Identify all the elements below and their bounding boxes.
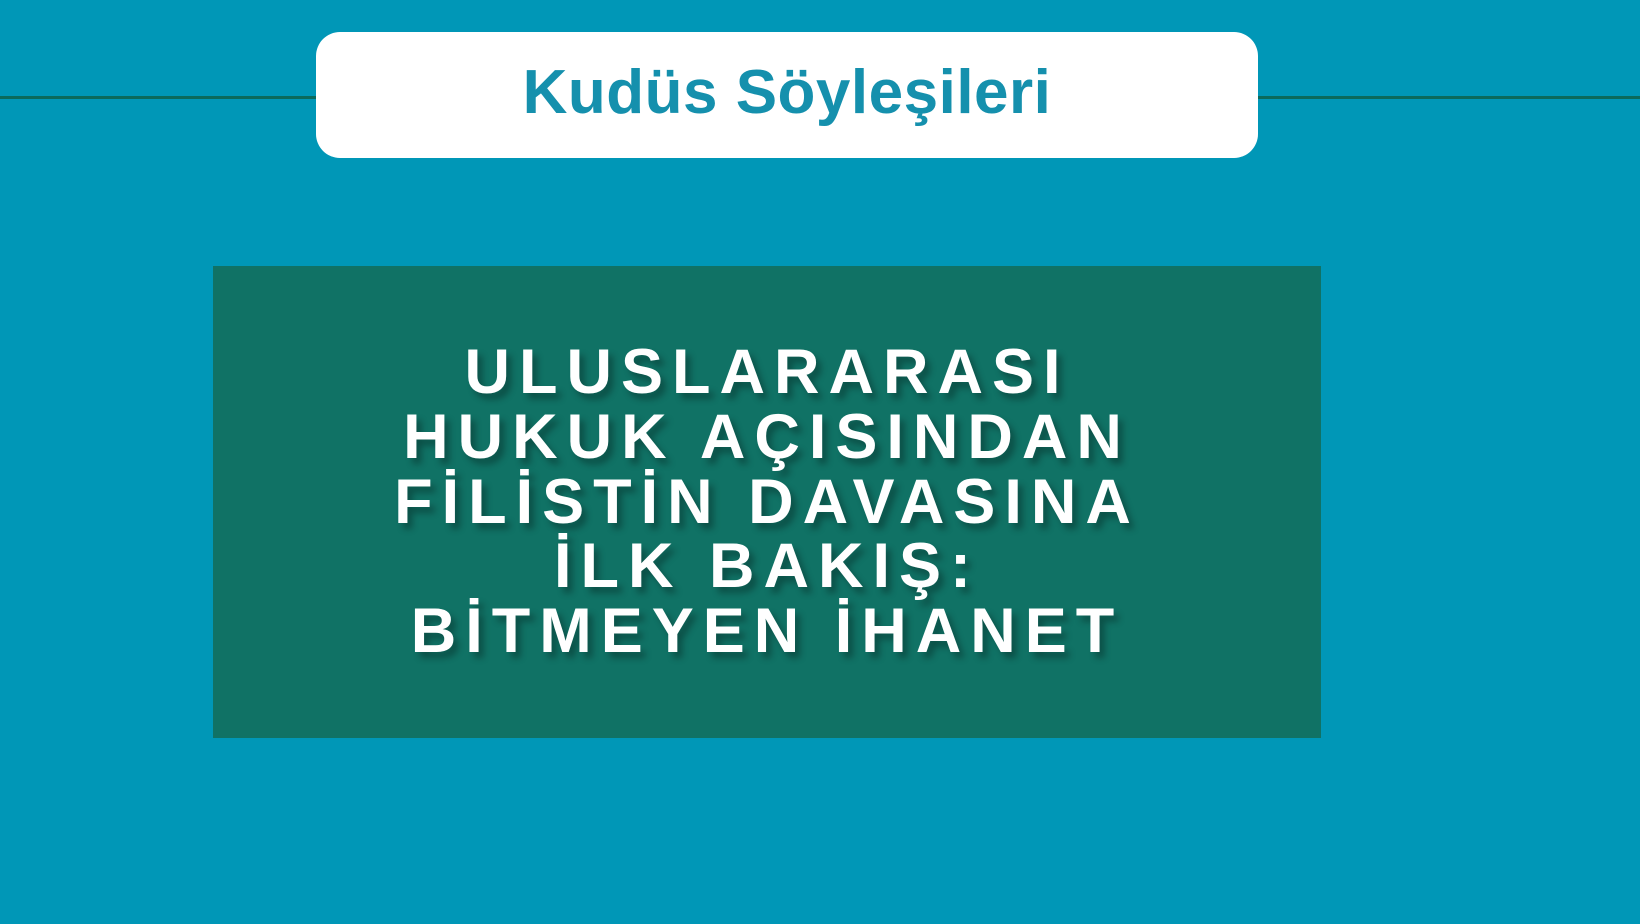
- headline-text: ULUSLARARASI HUKUK AÇISINDAN FİLİSTİN DA…: [394, 340, 1140, 664]
- headline-panel: ULUSLARARASI HUKUK AÇISINDAN FİLİSTİN DA…: [213, 266, 1321, 738]
- slide-title: Kudüs Söyleşileri: [523, 62, 1052, 124]
- presentation-slide: Kudüs Söyleşileri ULUSLARARASI HUKUK AÇI…: [0, 0, 1640, 924]
- title-pill: Kudüs Söyleşileri: [316, 32, 1258, 158]
